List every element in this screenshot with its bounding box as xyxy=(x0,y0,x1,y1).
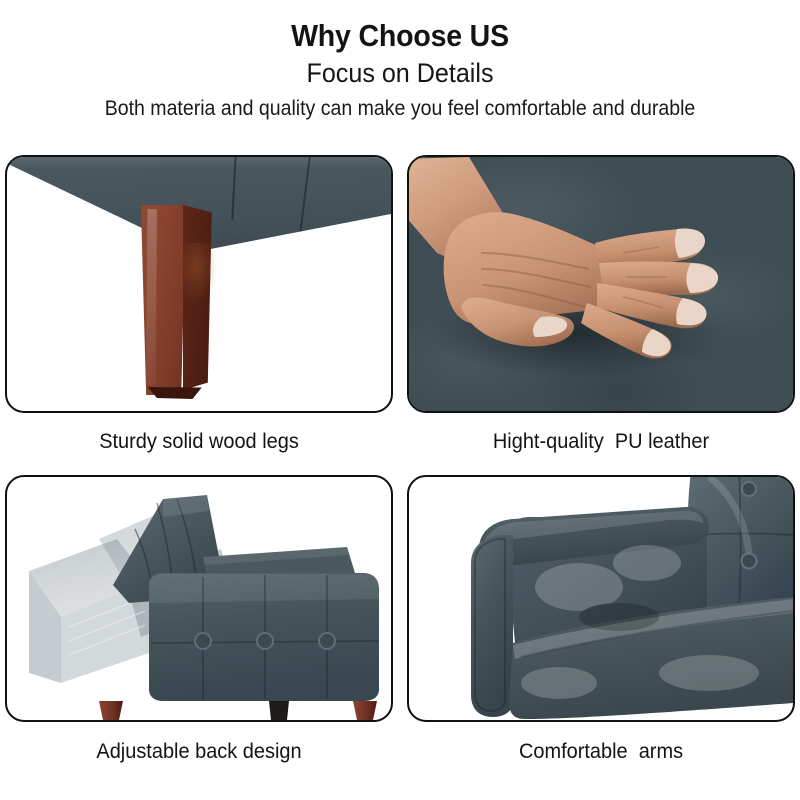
sofa-side-profile-illustration xyxy=(7,477,391,720)
arm-outer-panel xyxy=(471,535,513,717)
arm-top-highlight xyxy=(149,574,379,603)
feature-caption-adjustable-back: Adjustable back design xyxy=(15,739,384,765)
feature-row-top: Sturdy solid wood legs xyxy=(5,155,795,455)
feature-image-comfortable-arms xyxy=(407,475,795,722)
feature-caption-pu-leather: Hight-quality PU leather xyxy=(417,429,786,455)
feature-image-wood-legs xyxy=(5,155,393,413)
page-subtitle: Focus on Details xyxy=(28,57,772,90)
feature-cell-comfortable-arms: Comfortable arms xyxy=(407,475,795,765)
header: Why Choose US Focus on Details Both mate… xyxy=(0,0,800,122)
wood-leg-foot xyxy=(145,387,211,399)
feature-cell-adjustable-back: Adjustable back design xyxy=(5,475,393,765)
ring-fingernail xyxy=(676,298,706,325)
sofa-leg-left xyxy=(99,701,123,720)
upholstery-highlight xyxy=(5,155,393,169)
feature-image-adjustable-back xyxy=(5,475,393,722)
feature-row-bottom: Adjustable back design xyxy=(5,475,795,765)
feature-image-pu-leather xyxy=(407,155,795,413)
page-tagline: Both materia and quality can make you fe… xyxy=(28,96,772,122)
feature-grid: Sturdy solid wood legs xyxy=(0,155,800,765)
sofa-center-support xyxy=(269,701,289,720)
sofa-leg-right xyxy=(353,701,377,720)
feature-caption-comfortable-arms: Comfortable arms xyxy=(417,739,786,765)
page-title: Why Choose US xyxy=(32,18,768,54)
feature-cell-pu-leather: Hight-quality PU leather xyxy=(407,155,795,455)
wood-leg-warm-reflection xyxy=(183,243,217,303)
index-fingernail xyxy=(675,229,705,259)
wood-leg-gloss xyxy=(146,209,157,385)
feature-cell-wood-legs: Sturdy solid wood legs xyxy=(5,155,393,455)
wood-leg-front-face xyxy=(138,205,186,395)
hand-illustration xyxy=(409,157,793,411)
middle-fingernail xyxy=(686,263,718,293)
feature-caption-wood-legs: Sturdy solid wood legs xyxy=(15,429,384,455)
sofa-arm-closeup-illustration xyxy=(409,477,793,720)
